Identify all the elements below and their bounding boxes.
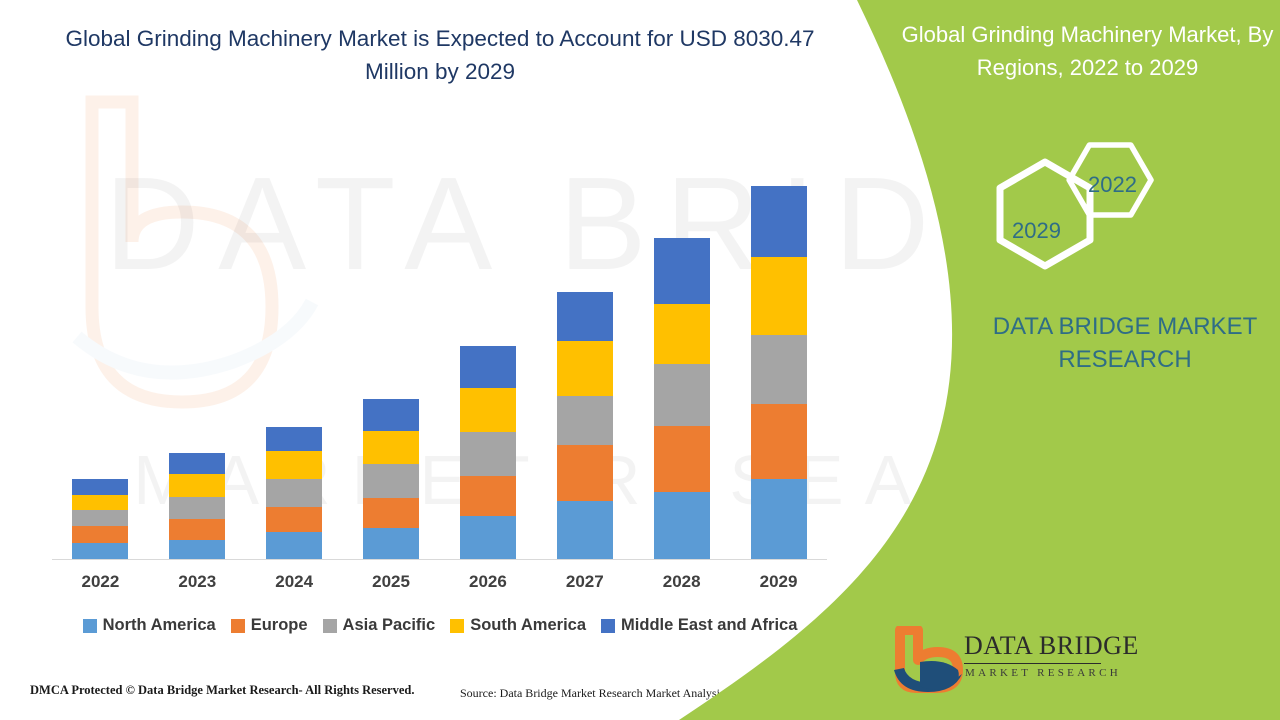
bar-segment bbox=[751, 335, 807, 404]
bar-segment bbox=[654, 426, 710, 492]
hexagon-label-2022: 2022 bbox=[1088, 172, 1137, 198]
bar-segment bbox=[72, 495, 128, 510]
bar-segment bbox=[266, 532, 322, 559]
bar-segment bbox=[460, 432, 516, 476]
bar-segment bbox=[557, 341, 613, 396]
x-axis-label-2023: 2023 bbox=[149, 572, 245, 592]
bar-segment bbox=[654, 304, 710, 364]
bar-segment bbox=[72, 526, 128, 543]
hexagon-label-2029: 2029 bbox=[1012, 218, 1061, 244]
bar-segment bbox=[169, 540, 225, 559]
bar-segment bbox=[557, 292, 613, 341]
x-axis-label-2029: 2029 bbox=[731, 572, 827, 592]
bar-segment bbox=[654, 238, 710, 304]
bar-segment bbox=[363, 431, 419, 464]
footer-dmca-notice: DMCA Protected © Data Bridge Market Rese… bbox=[30, 683, 415, 698]
legend-swatch-icon bbox=[83, 619, 97, 633]
logo-secondary-text: MARKET RESEARCH bbox=[965, 667, 1121, 679]
legend-label: Europe bbox=[251, 616, 308, 635]
brand-name: DATA BRIDGE MARKET RESEARCH bbox=[960, 310, 1280, 376]
legend-swatch-icon bbox=[323, 619, 337, 633]
legend-item-north-america[interactable]: North America bbox=[83, 616, 216, 635]
bar-segment bbox=[266, 427, 322, 451]
bar-column-2024 bbox=[266, 427, 322, 559]
panel-title: Global Grinding Machinery Market, By Reg… bbox=[895, 18, 1280, 84]
bar-column-2028 bbox=[654, 238, 710, 559]
bar-segment bbox=[654, 492, 710, 559]
bar-segment bbox=[557, 445, 613, 501]
bar-segment bbox=[751, 404, 807, 479]
bar-segment bbox=[72, 510, 128, 526]
bar-segment bbox=[751, 186, 807, 257]
bar-segment bbox=[72, 479, 128, 495]
x-axis-label-2022: 2022 bbox=[52, 572, 148, 592]
bar-column-2022 bbox=[72, 479, 128, 559]
legend-item-south-america[interactable]: South America bbox=[450, 616, 586, 635]
bar-segment bbox=[72, 543, 128, 559]
bar-segment bbox=[751, 257, 807, 335]
logo-primary-text: DATA BRIDGE bbox=[964, 631, 1139, 661]
x-axis-line bbox=[52, 559, 827, 560]
x-axis-labels: 20222023202420252026202720282029 bbox=[52, 572, 827, 602]
legend-label: South America bbox=[470, 616, 586, 635]
legend-label: North America bbox=[103, 616, 216, 635]
legend-swatch-icon bbox=[231, 619, 245, 633]
bar-segment bbox=[169, 497, 225, 519]
bar-column-2023 bbox=[169, 453, 225, 559]
bar-segment bbox=[460, 388, 516, 432]
bar-segment bbox=[460, 516, 516, 559]
bar-segment bbox=[460, 346, 516, 388]
x-axis-label-2025: 2025 bbox=[343, 572, 439, 592]
logo-divider bbox=[964, 663, 1101, 664]
bar-segment bbox=[363, 399, 419, 431]
hexagon-group: 2022 2029 bbox=[985, 142, 1185, 272]
bar-column-2026 bbox=[460, 346, 516, 559]
legend-label: Middle East and Africa bbox=[621, 616, 797, 635]
hexagon-shapes-icon bbox=[985, 142, 1185, 272]
bar-segment bbox=[266, 479, 322, 507]
x-axis-label-2026: 2026 bbox=[440, 572, 536, 592]
x-axis-label-2027: 2027 bbox=[537, 572, 633, 592]
infographic-root: DATA BRIDGE MARKET RESEARCH Global Grind… bbox=[0, 0, 1280, 720]
legend-item-asia-pacific[interactable]: Asia Pacific bbox=[323, 616, 436, 635]
legend-label: Asia Pacific bbox=[343, 616, 436, 635]
bar-segment bbox=[169, 453, 225, 474]
bar-column-2029 bbox=[751, 186, 807, 559]
bar-segment bbox=[654, 364, 710, 426]
legend-swatch-icon bbox=[601, 619, 615, 633]
legend-item-middle-east-and-africa[interactable]: Middle East and Africa bbox=[601, 616, 797, 635]
bar-segment bbox=[557, 396, 613, 445]
bar-segment bbox=[169, 474, 225, 497]
data-bridge-logo: DATA BRIDGE MARKET RESEARCH bbox=[892, 626, 1107, 696]
bar-segment bbox=[751, 479, 807, 559]
bar-segment bbox=[266, 451, 322, 479]
chart-legend: North AmericaEuropeAsia PacificSouth Ame… bbox=[45, 616, 835, 635]
bar-column-2025 bbox=[363, 399, 419, 559]
bar-segment bbox=[557, 501, 613, 559]
bar-segment bbox=[363, 528, 419, 559]
bar-segment bbox=[169, 519, 225, 540]
bar-segment bbox=[363, 464, 419, 498]
bar-segment bbox=[363, 498, 419, 528]
legend-item-europe[interactable]: Europe bbox=[231, 616, 308, 635]
footer-source-note: Source: Data Bridge Market Research Mark… bbox=[460, 686, 783, 701]
bar-column-2027 bbox=[557, 292, 613, 559]
x-axis-label-2024: 2024 bbox=[246, 572, 342, 592]
chart-plot-area bbox=[52, 120, 827, 560]
x-axis-label-2028: 2028 bbox=[634, 572, 730, 592]
bar-segment bbox=[266, 507, 322, 532]
legend-swatch-icon bbox=[450, 619, 464, 633]
chart-title: Global Grinding Machinery Market is Expe… bbox=[45, 22, 835, 88]
bar-segment bbox=[460, 476, 516, 516]
